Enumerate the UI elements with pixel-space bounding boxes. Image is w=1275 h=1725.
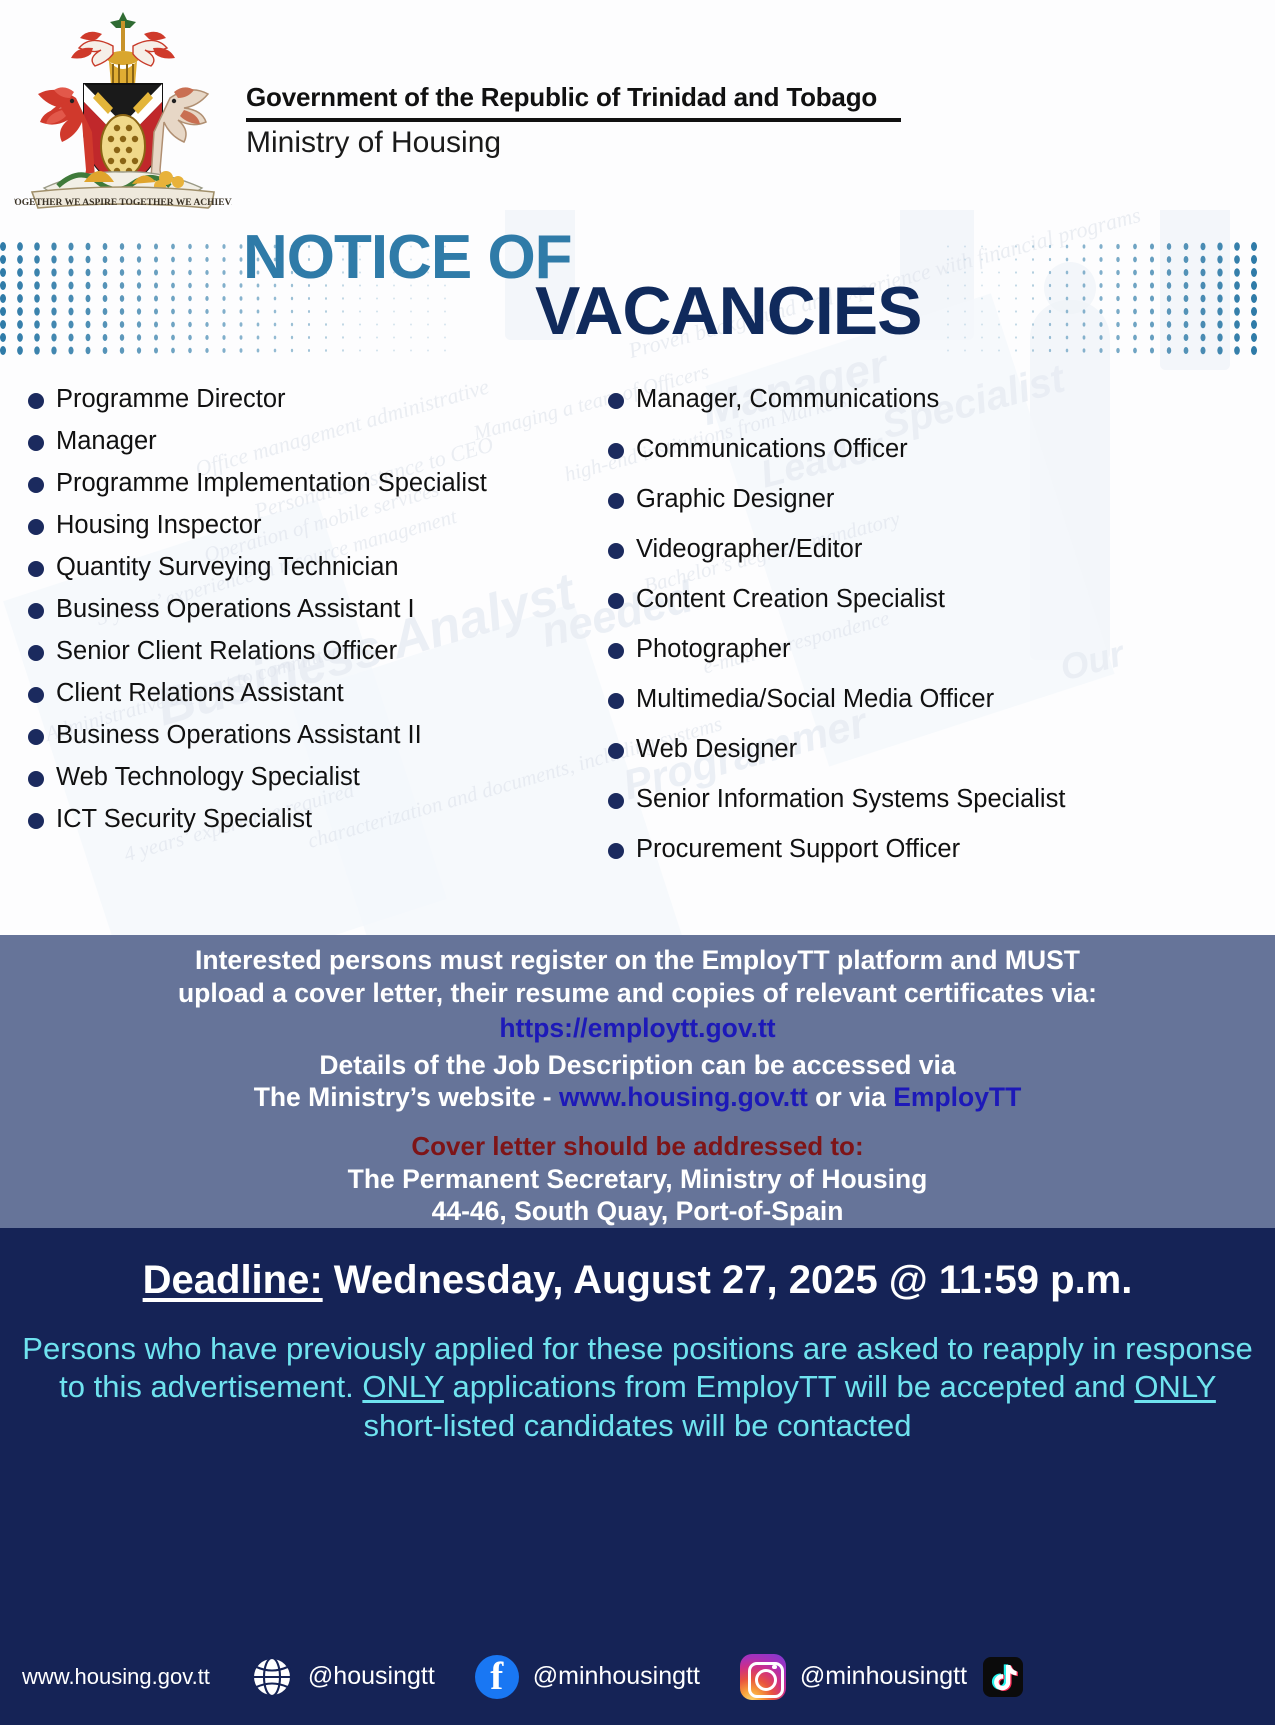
social-item-website[interactable]: @housingtt xyxy=(250,1655,435,1699)
note-part-2: applications from EmployTT will be accep… xyxy=(444,1369,1134,1404)
bullet-icon xyxy=(608,793,624,809)
handle-website: @housingtt xyxy=(308,1662,435,1691)
social-item-instagram[interactable]: @minhousingtt xyxy=(740,1654,967,1700)
vacancy-item: ICT Security Specialist xyxy=(28,805,573,833)
bullet-icon xyxy=(28,561,44,577)
globe-icon xyxy=(250,1655,294,1699)
vacancy-label: Web Designer xyxy=(636,735,1188,763)
vacancy-item: Manager, Communications xyxy=(608,385,1188,413)
vacancy-lists: Programme DirectorManagerProgramme Imple… xyxy=(0,385,1275,935)
bullet-icon xyxy=(608,593,624,609)
bullet-icon xyxy=(28,477,44,493)
dot-row xyxy=(945,344,1275,357)
job-description-line: Details of the Job Description can be ac… xyxy=(0,1049,1275,1082)
dot-row xyxy=(945,331,1275,344)
note-only-1: ONLY xyxy=(362,1369,444,1404)
vacancy-list-right: Manager, CommunicationsCommunications Of… xyxy=(608,385,1188,885)
vacancy-item: Housing Inspector xyxy=(28,511,573,539)
vacancy-item: Client Relations Assistant xyxy=(28,679,573,707)
bullet-icon xyxy=(28,687,44,703)
vacancy-item: Multimedia/Social Media Officer xyxy=(608,685,1188,713)
dot-row xyxy=(0,292,470,305)
website-mid-text: or via xyxy=(808,1082,893,1112)
note-only-2: ONLY xyxy=(1134,1369,1216,1404)
vacancy-item: Content Creation Specialist xyxy=(608,585,1188,613)
vacancy-label: Manager, Communications xyxy=(636,385,1188,413)
vacancy-item: Web Designer xyxy=(608,735,1188,763)
vacancy-label: Quantity Surveying Technician xyxy=(56,553,573,581)
vacancy-label: Multimedia/Social Media Officer xyxy=(636,685,1188,713)
vacancy-label: Programme Director xyxy=(56,385,573,413)
facebook-icon: f xyxy=(475,1655,519,1699)
bullet-icon xyxy=(28,771,44,787)
vacancy-label: Content Creation Specialist xyxy=(636,585,1188,613)
dot-row xyxy=(0,331,470,344)
dot-row xyxy=(945,240,1275,253)
employtt-name-link[interactable]: EmployTT xyxy=(893,1082,1021,1112)
vacancy-item: Business Operations Assistant II xyxy=(28,721,573,749)
bullet-icon xyxy=(28,813,44,829)
vacancy-label: Housing Inspector xyxy=(56,511,573,539)
vacancy-label: Senior Information Systems Specialist xyxy=(636,785,1188,813)
header-divider xyxy=(246,118,901,122)
vacancy-label: Graphic Designer xyxy=(636,485,1188,513)
social-item-tiktok[interactable] xyxy=(983,1657,1023,1697)
vacancy-item: Procurement Support Officer xyxy=(608,835,1188,863)
dot-row xyxy=(945,318,1275,331)
vacancy-item: Quantity Surveying Technician xyxy=(28,553,573,581)
vacancy-item: Videographer/Editor xyxy=(608,535,1188,563)
coat-of-arms-icon: TOGETHER WE ASPIRE TOGETHER WE ACHIEVE xyxy=(14,6,232,211)
bullet-icon xyxy=(28,603,44,619)
bullet-icon xyxy=(608,543,624,559)
application-info-text: Interested persons must register on the … xyxy=(0,938,1275,1228)
bullet-icon xyxy=(28,645,44,661)
dot-pattern-right xyxy=(945,240,1275,370)
vacancy-label: Business Operations Assistant II xyxy=(56,721,573,749)
vacancy-label: Communications Officer xyxy=(636,435,1188,463)
register-line-1: Interested persons must register on the … xyxy=(0,944,1275,977)
page-title-line1: NOTICE OF xyxy=(243,222,572,293)
vacancy-label: Manager xyxy=(56,427,573,455)
employtt-url-link[interactable]: https://employtt.gov.tt xyxy=(499,1013,775,1043)
vacancy-item: Senior Client Relations Officer xyxy=(28,637,573,665)
vacancy-list-left: Programme DirectorManagerProgramme Imple… xyxy=(28,385,573,848)
note-part-3: short-listed candidates will be contacte… xyxy=(364,1408,912,1443)
vacancy-label: Procurement Support Officer xyxy=(636,835,1188,863)
vacancy-label: Business Operations Assistant I xyxy=(56,595,573,623)
poster-footer: www.housing.gov.tt @housingtt f @minhous… xyxy=(0,1628,1275,1725)
poster-header: TOGETHER WE ASPIRE TOGETHER WE ACHIEVE G… xyxy=(0,0,1275,215)
bullet-icon xyxy=(28,519,44,535)
ministry-website-prefix: The Ministry’s website - xyxy=(254,1082,559,1112)
vacancy-label: Photographer xyxy=(636,635,1188,663)
bullet-icon xyxy=(608,743,624,759)
bullet-icon xyxy=(608,843,624,859)
ministry-name: Ministry of Housing xyxy=(246,126,501,160)
housing-url-link[interactable]: www.housing.gov.tt xyxy=(559,1082,808,1112)
bullet-icon xyxy=(28,393,44,409)
vacancy-item: Programme Director xyxy=(28,385,573,413)
dot-row xyxy=(945,305,1275,318)
dot-row xyxy=(945,253,1275,266)
dot-row xyxy=(0,318,470,331)
vacancy-item: Web Technology Specialist xyxy=(28,763,573,791)
page-title-line2: VACANCIES xyxy=(535,272,921,350)
bullet-icon xyxy=(608,443,624,459)
vacancy-item: Business Operations Assistant I xyxy=(28,595,573,623)
svg-text:TOGETHER WE ASPIRE TOGETHER: TOGETHER WE ASPIRE TOGETHER WE ACHIEVE xyxy=(14,198,232,208)
vacancy-label: Client Relations Assistant xyxy=(56,679,573,707)
vacancy-item: Photographer xyxy=(608,635,1188,663)
bullet-icon xyxy=(608,693,624,709)
register-line-2: upload a cover letter, their resume and … xyxy=(0,977,1275,1010)
address-line-1: The Permanent Secretary, Ministry of Hou… xyxy=(0,1163,1275,1196)
vacancy-label: ICT Security Specialist xyxy=(56,805,573,833)
vacancy-label: Programme Implementation Specialist xyxy=(56,469,573,497)
dot-row xyxy=(945,279,1275,292)
dot-row xyxy=(0,305,470,318)
bullet-icon xyxy=(28,435,44,451)
vacancy-label: Videographer/Editor xyxy=(636,535,1188,563)
vacancy-item: Programme Implementation Specialist xyxy=(28,469,573,497)
vacancy-item: Communications Officer xyxy=(608,435,1188,463)
tiktok-icon xyxy=(983,1657,1023,1697)
reapply-note: Persons who have previously applied for … xyxy=(22,1330,1253,1445)
cover-letter-heading: Cover letter should be addressed to: xyxy=(0,1130,1275,1162)
footer-website[interactable]: www.housing.gov.tt xyxy=(22,1664,210,1690)
dot-row xyxy=(945,266,1275,279)
government-title: Government of the Republic of Trinidad a… xyxy=(246,82,877,113)
bullet-icon xyxy=(608,643,624,659)
bullet-icon xyxy=(608,493,624,509)
vacancy-poster: Business Analyst Manager Specialist need… xyxy=(0,0,1275,1725)
instagram-icon xyxy=(740,1654,786,1700)
vacancy-item: Graphic Designer xyxy=(608,485,1188,513)
social-item-facebook[interactable]: f @minhousingtt xyxy=(475,1655,700,1699)
deadline-value: Wednesday, August 27, 2025 @ 11:59 p.m. xyxy=(323,1258,1133,1302)
deadline-text: Deadline: Wednesday, August 27, 2025 @ 1… xyxy=(0,1258,1275,1303)
address-line-2: 44-46, South Quay, Port-of-Spain xyxy=(0,1195,1275,1228)
dot-row xyxy=(945,292,1275,305)
vacancy-label: Senior Client Relations Officer xyxy=(56,637,573,665)
vacancy-label: Web Technology Specialist xyxy=(56,763,573,791)
deadline-label: Deadline: xyxy=(143,1258,323,1302)
dot-row xyxy=(0,344,470,357)
bullet-icon xyxy=(28,729,44,745)
handle-instagram: @minhousingtt xyxy=(800,1662,967,1691)
bullet-icon xyxy=(608,393,624,409)
vacancy-item: Manager xyxy=(28,427,573,455)
vacancy-item: Senior Information Systems Specialist xyxy=(608,785,1188,813)
handle-facebook: @minhousingtt xyxy=(533,1662,700,1691)
